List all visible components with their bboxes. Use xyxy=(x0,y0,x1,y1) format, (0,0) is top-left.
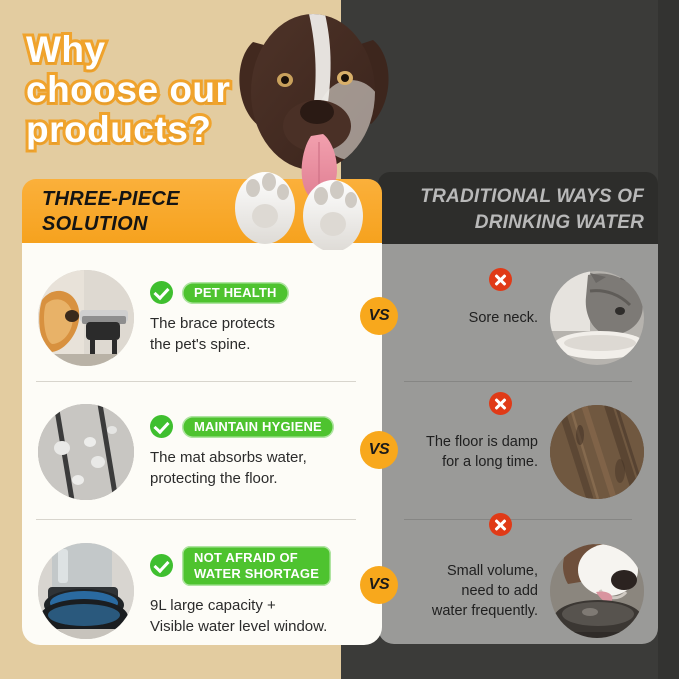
x-circle-icon xyxy=(489,392,512,415)
drawback-desc-3: Small volume, need to add water frequent… xyxy=(432,561,538,621)
page-title-line-1: Why xyxy=(26,30,326,70)
drawback-body-3: Small volume, need to add water frequent… xyxy=(432,561,538,621)
feature-image-2 xyxy=(38,404,134,500)
feature-image-3 xyxy=(38,543,134,639)
page-title-line-2: choose our xyxy=(26,70,326,110)
feature-desc-2: The mat absorbs water, protecting the fl… xyxy=(150,447,382,489)
drawback-desc-2: The floor is damp for a long time. xyxy=(426,432,538,472)
drawback-divider-2 xyxy=(404,519,632,520)
feature-badge-3: NOT AFRAID OF WATER SHORTAGE xyxy=(182,546,331,586)
feature-body-3: NOT AFRAID OF WATER SHORTAGE 9L large ca… xyxy=(150,546,382,637)
drawback-image-1 xyxy=(550,271,644,365)
right-column-header: TRADITIONAL WAYS OF DRINKING WATER xyxy=(378,172,658,244)
feature-body-1: PET HEALTH The brace protects the pet's … xyxy=(150,281,382,355)
check-circle-icon xyxy=(150,281,173,304)
drawback-row-3: Small volume, need to add water frequent… xyxy=(378,531,658,651)
feature-badge-line-3: NOT AFRAID OF WATER SHORTAGE xyxy=(150,546,382,586)
drawback-divider-1 xyxy=(404,381,632,382)
drawback-image-3 xyxy=(550,544,644,638)
feature-image-1 xyxy=(38,270,134,366)
feature-row-3: NOT AFRAID OF WATER SHORTAGE 9L large ca… xyxy=(22,531,382,651)
drawback-row-2: The floor is damp for a long time. xyxy=(378,392,658,512)
drawback-image-2 xyxy=(550,405,644,499)
feature-badge-line-2: MAINTAIN HYGIENE xyxy=(150,415,382,438)
feature-desc-3: 9L large capacity + Visible water level … xyxy=(150,595,382,637)
page-title: Why choose our products? xyxy=(26,30,326,150)
feature-badge-line-1: PET HEALTH xyxy=(150,281,382,304)
feature-row-1: PET HEALTH The brace protects the pet's … xyxy=(22,258,382,378)
page-title-line-3: products? xyxy=(26,110,326,150)
feature-divider-1 xyxy=(36,381,356,382)
drawback-body-2: The floor is damp for a long time. xyxy=(426,432,538,472)
feature-desc-1: The brace protects the pet's spine. xyxy=(150,313,382,355)
vs-badge-2: VS xyxy=(360,431,398,469)
feature-body-2: MAINTAIN HYGIENE The mat absorbs water, … xyxy=(150,415,382,489)
drawback-desc-1: Sore neck. xyxy=(469,308,538,328)
feature-badge-2: MAINTAIN HYGIENE xyxy=(182,416,334,438)
x-circle-icon xyxy=(489,268,512,291)
drawback-row-1: Sore neck. xyxy=(378,258,658,378)
feature-badge-1: PET HEALTH xyxy=(182,282,289,304)
drawback-body-1: Sore neck. xyxy=(469,308,538,328)
check-circle-icon xyxy=(150,415,173,438)
feature-divider-2 xyxy=(36,519,356,520)
x-circle-icon xyxy=(489,513,512,536)
background-right-edge-strip xyxy=(658,0,679,679)
left-column-header-label: THREE-PIECE SOLUTION xyxy=(42,187,292,237)
vs-badge-3: VS xyxy=(360,566,398,604)
right-column-header-label: TRADITIONAL WAYS OF DRINKING WATER xyxy=(384,184,644,236)
vs-badge-1: VS xyxy=(360,297,398,335)
check-circle-icon xyxy=(150,554,173,577)
left-column-header: THREE-PIECE SOLUTION xyxy=(22,179,382,243)
feature-row-2: MAINTAIN HYGIENE The mat absorbs water, … xyxy=(22,392,382,512)
